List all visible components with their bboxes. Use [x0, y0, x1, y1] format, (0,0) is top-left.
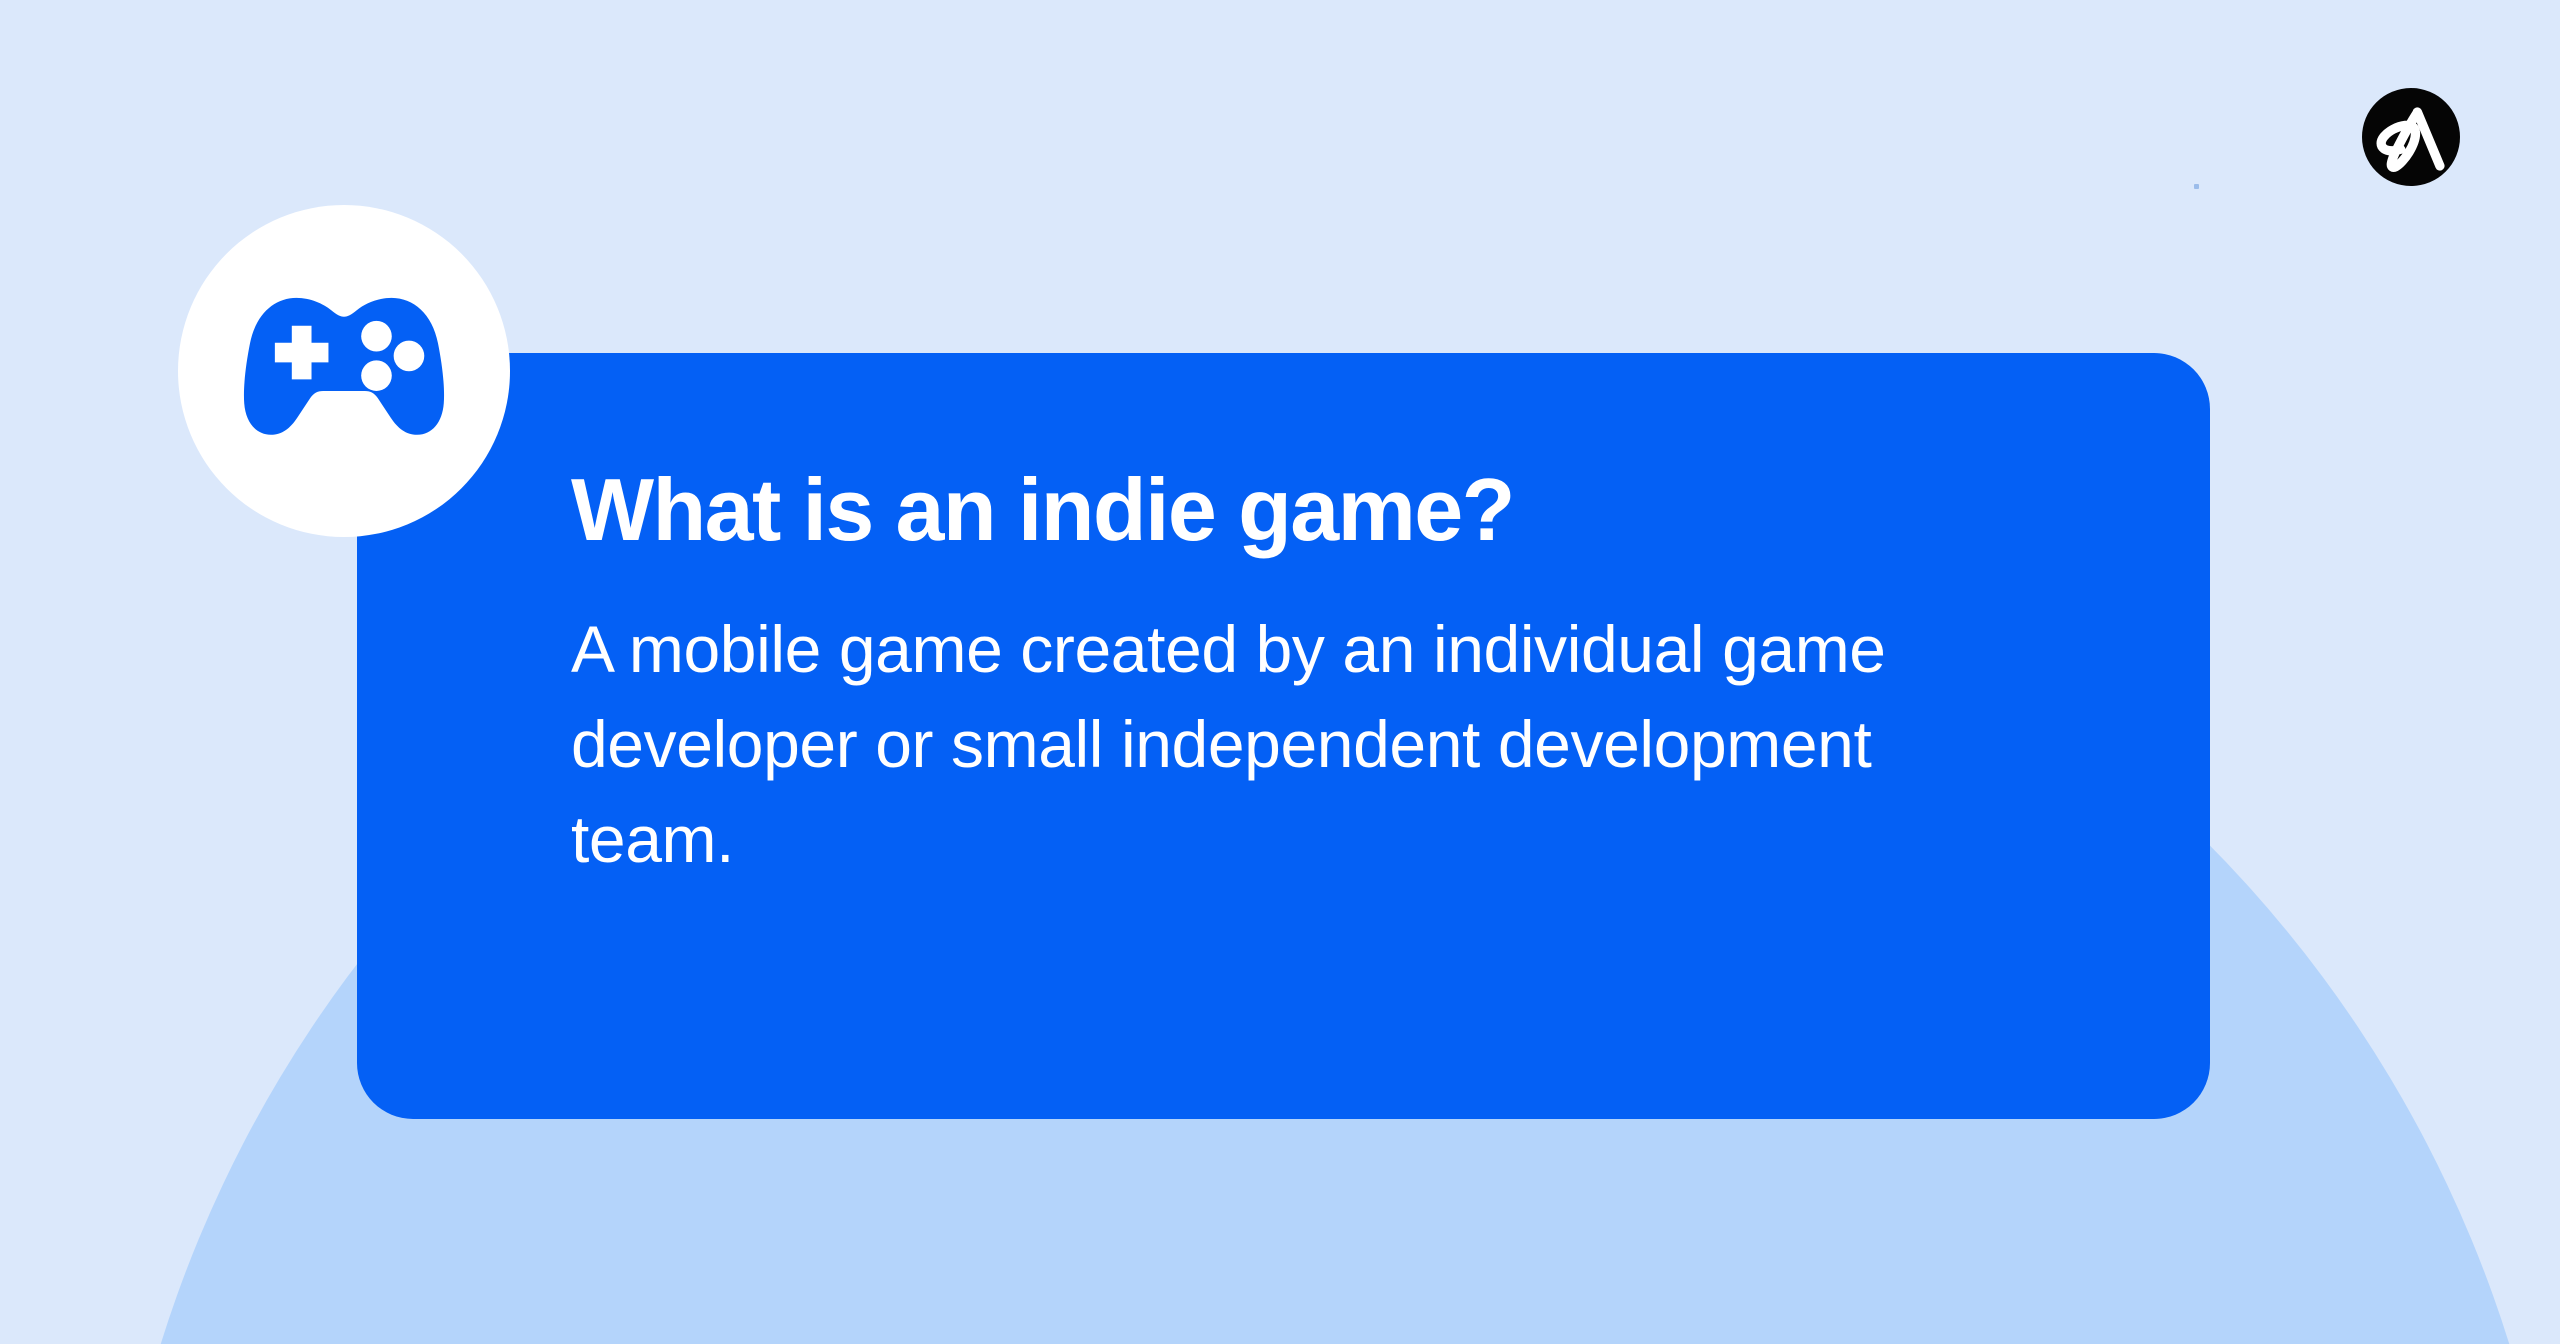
appsflyer-logo[interactable] [2362, 88, 2460, 186]
gamepad-icon [228, 255, 460, 487]
card-title: What is an indie game? [571, 463, 2120, 556]
info-card-content: What is an indie game? A mobile game cre… [571, 463, 2120, 887]
info-card: What is an indie game? A mobile game cre… [357, 353, 2210, 1119]
slide-canvas: What is an indie game? A mobile game cre… [0, 0, 2560, 1344]
background-speck [2194, 184, 2199, 189]
gamepad-badge [178, 205, 510, 537]
card-body-text: A mobile game created by an individual g… [571, 602, 1971, 887]
